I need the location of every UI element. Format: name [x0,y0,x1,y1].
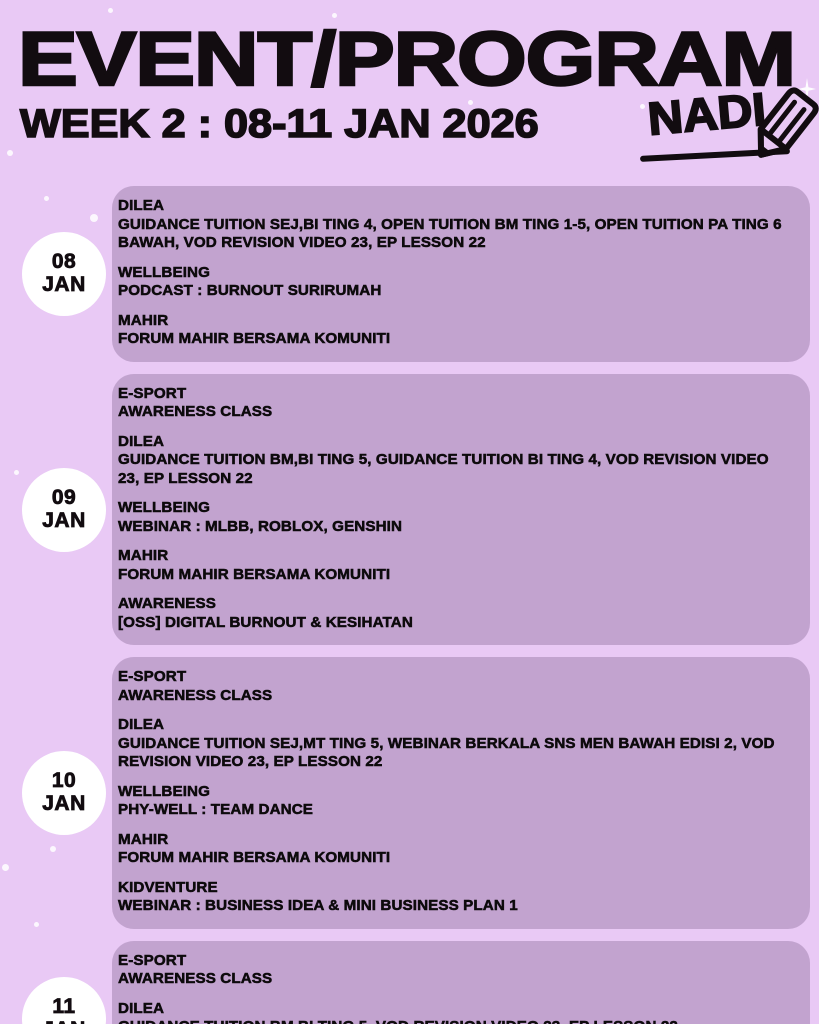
date-badge-day: 08 [52,251,76,273]
program-category-label: DILEA [118,433,794,452]
program-section: WELLBEINGWEBINAR : MLBB, ROBLOX, GENSHIN [118,499,794,536]
page-subtitle: WEEK 2 : 08-11 JAN 2026 [20,104,539,144]
program-detail-text: PHY-WELL : TEAM DANCE [118,801,794,820]
program-detail-text: FORUM MAHIR BERSAMA KOMUNITI [118,849,794,868]
program-detail-text: AWARENESS CLASS [118,403,794,422]
program-category-label: MAHIR [118,831,794,850]
date-badge: 10JAN [22,751,106,835]
program-detail-text: AWARENESS CLASS [118,687,794,706]
program-category-label: DILEA [118,197,794,216]
date-badge-month: JAN [42,792,86,816]
program-category-label: WELLBEING [118,264,794,283]
program-section: DILEAGUIDANCE TUITION SEJ,MT TING 5, WEB… [118,716,794,772]
date-badge-month: JAN [42,273,86,297]
program-category-label: WELLBEING [118,783,794,802]
program-section: WELLBEINGPODCAST : BURNOUT SURIRUMAH [118,264,794,301]
date-badge-day: 09 [52,487,76,509]
program-detail-text: PODCAST : BURNOUT SURIRUMAH [118,282,794,301]
program-section: KIDVENTUREWEBINAR : BUSINESS IDEA & MINI… [118,879,794,916]
program-section: MAHIRFORUM MAHIR BERSAMA KOMUNITI [118,547,794,584]
day-card: E-SPORTAWARENESS CLASSDILEAGUIDANCE TUIT… [112,657,810,929]
program-detail-text: GUIDANCE TUITION SEJ,MT TING 5, WEBINAR … [118,735,794,772]
date-badge: 11JAN [22,977,106,1024]
program-category-label: KIDVENTURE [118,879,794,898]
page-title: EVENT/PROGRAM [18,22,795,98]
program-category-label: MAHIR [118,312,794,331]
program-detail-text: WEBINAR : BUSINESS IDEA & MINI BUSINESS … [118,897,794,916]
date-badge: 08JAN [22,232,106,316]
program-detail-text: FORUM MAHIR BERSAMA KOMUNITI [118,330,794,349]
program-category-label: MAHIR [118,547,794,566]
program-detail-text: AWARENESS CLASS [118,970,794,989]
date-badge-month: JAN [42,509,86,533]
program-category-label: E-SPORT [118,952,794,971]
program-section: AWARENESS[OSS] DIGITAL BURNOUT & KESIHAT… [118,595,794,632]
program-detail-text: [OSS] DIGITAL BURNOUT & KESIHATAN [118,614,794,633]
program-section: MAHIRFORUM MAHIR BERSAMA KOMUNITI [118,831,794,868]
date-badge-day: 11 [52,996,75,1018]
program-section: DILEAGUIDANCE TUITION SEJ,BI TING 4, OPE… [118,197,794,253]
program-category-label: DILEA [118,1000,794,1019]
program-detail-text: GUIDANCE TUITION BM,BI TING 5, GUIDANCE … [118,451,794,488]
program-category-label: E-SPORT [118,668,794,687]
date-badge-month: JAN [42,1018,86,1024]
program-category-label: AWARENESS [118,595,794,614]
date-badge-day: 10 [52,770,76,792]
program-detail-text: GUIDANCE TUITION BM,BI TING 5, VOD REVIS… [118,1018,794,1024]
poster-header: EVENT/PROGRAM WEEK 2 : 08-11 JAN 2026 NA… [0,0,819,178]
program-detail-text: GUIDANCE TUITION SEJ,BI TING 4, OPEN TUI… [118,216,794,253]
day-card: E-SPORTAWARENESS CLASSDILEAGUIDANCE TUIT… [112,374,810,646]
program-section: E-SPORTAWARENESS CLASS [118,952,794,989]
schedule-list: 08JANDILEAGUIDANCE TUITION SEJ,BI TING 4… [0,186,819,1024]
day-card: E-SPORTAWARENESS CLASSDILEAGUIDANCE TUIT… [112,941,810,1024]
schedule-day-row: 10JANE-SPORTAWARENESS CLASSDILEAGUIDANCE… [0,657,819,929]
schedule-day-row: 08JANDILEAGUIDANCE TUITION SEJ,BI TING 4… [0,186,819,362]
date-badge: 09JAN [22,468,106,552]
program-category-label: E-SPORT [118,385,794,404]
program-section: DILEAGUIDANCE TUITION BM,BI TING 5, GUID… [118,433,794,489]
schedule-day-row: 11JANE-SPORTAWARENESS CLASSDILEAGUIDANCE… [0,941,819,1024]
program-detail-text: FORUM MAHIR BERSAMA KOMUNITI [118,566,794,585]
program-section: MAHIRFORUM MAHIR BERSAMA KOMUNITI [118,312,794,349]
program-section: DILEAGUIDANCE TUITION BM,BI TING 5, VOD … [118,1000,794,1024]
schedule-day-row: 09JANE-SPORTAWARENESS CLASSDILEAGUIDANCE… [0,374,819,646]
program-section: WELLBEINGPHY-WELL : TEAM DANCE [118,783,794,820]
day-card: DILEAGUIDANCE TUITION SEJ,BI TING 4, OPE… [112,186,810,362]
program-section: E-SPORTAWARENESS CLASS [118,385,794,422]
pencil-icon [742,86,819,170]
program-category-label: DILEA [118,716,794,735]
program-section: E-SPORTAWARENESS CLASS [118,668,794,705]
poster-canvas: EVENT/PROGRAM WEEK 2 : 08-11 JAN 2026 NA… [0,0,819,1024]
program-detail-text: WEBINAR : MLBB, ROBLOX, GENSHIN [118,518,794,537]
program-category-label: WELLBEING [118,499,794,518]
